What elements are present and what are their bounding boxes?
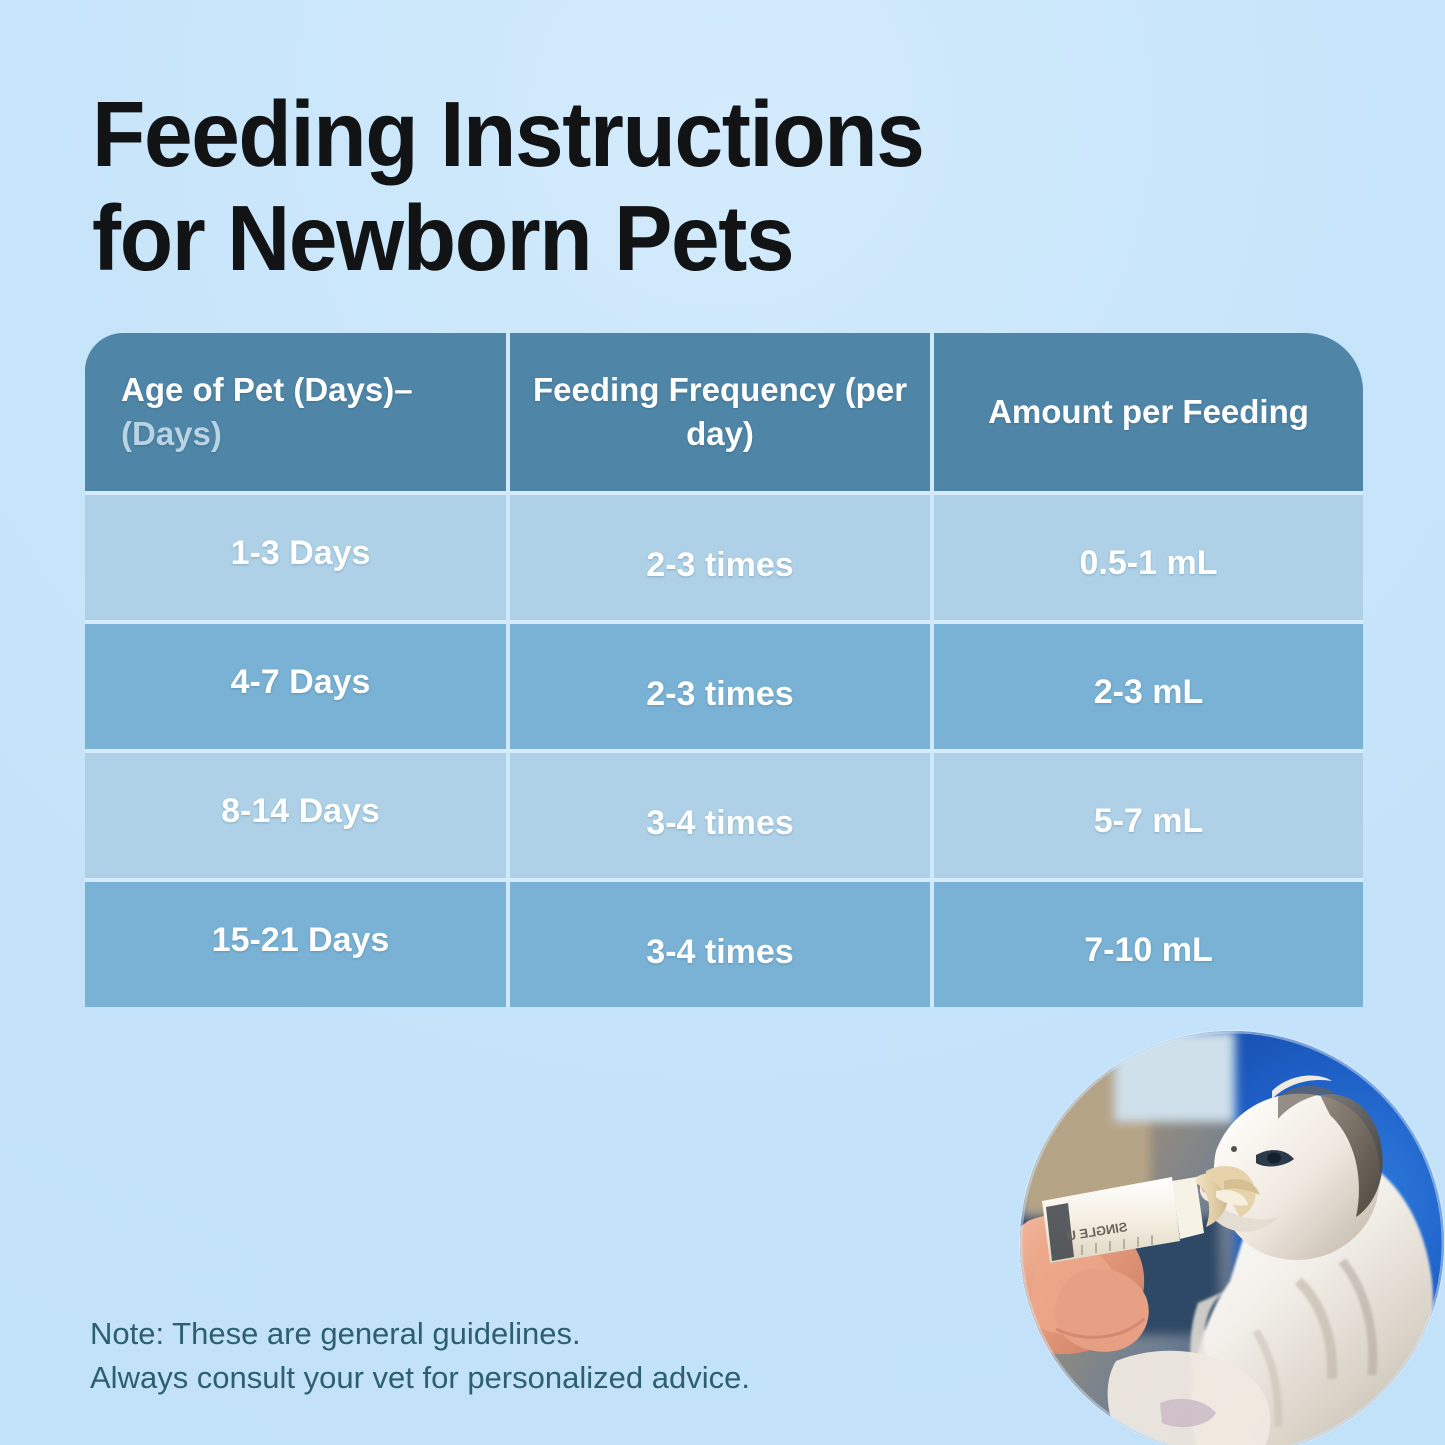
cell-frequency: 3-4 times [506, 749, 930, 878]
infographic-page: Feeding Instructions for Newborn Pets Ag… [0, 0, 1445, 1445]
cell-amount: 0.5-1 mL [930, 491, 1363, 620]
page-title-line-2: for Newborn Pets [92, 186, 1088, 290]
page-title-line-1: Feeding Instructions [92, 82, 1088, 186]
note-line-1: Note: These are general guidelines. [90, 1312, 990, 1356]
column-header-age: Age of Pet (Days)– (Days) [85, 333, 506, 491]
table-header-row: Age of Pet (Days)– (Days) Feeding Freque… [85, 333, 1363, 491]
page-title: Feeding Instructions for Newborn Pets [92, 82, 1152, 290]
cell-age: 4-7 Days [85, 620, 506, 749]
cell-frequency: 2-3 times [506, 620, 930, 749]
cell-age: 8-14 Days [85, 749, 506, 878]
column-header-age-main: Age of Pet (Days)– [121, 371, 413, 408]
table-row: 15-21 Days 3-4 times 7-10 mL [85, 878, 1363, 1007]
note-text: Note: These are general guidelines. Alwa… [90, 1312, 990, 1400]
column-header-frequency-line-1: Feeding Frequency [533, 371, 836, 408]
column-header-frequency: Feeding Frequency (per day) [506, 333, 930, 491]
table-row: 8-14 Days 3-4 times 5-7 mL [85, 749, 1363, 878]
note-line-2: Always consult your vet for personalized… [90, 1356, 990, 1400]
column-header-amount-line-2: Feeding [1182, 393, 1309, 430]
feeding-table: Age of Pet (Days)– (Days) Feeding Freque… [85, 333, 1363, 1007]
cell-amount: 2-3 mL [930, 620, 1363, 749]
table-row: 4-7 Days 2-3 times 2-3 mL [85, 620, 1363, 749]
column-header-amount: Amount per Feeding [930, 333, 1363, 491]
cell-amount: 5-7 mL [930, 749, 1363, 878]
cell-frequency: 3-4 times [506, 878, 930, 1007]
cell-age: 1-3 Days [85, 491, 506, 620]
cell-age: 15-21 Days [85, 878, 506, 1007]
column-header-amount-line-1: Amount per [988, 393, 1173, 430]
cell-amount: 7-10 mL [930, 878, 1363, 1007]
kitten-bottle-feeding-photo: SINGLE U [1020, 1031, 1444, 1445]
column-header-age-sub: (Days) [121, 412, 413, 456]
table-row: 1-3 Days 2-3 times 0.5-1 mL [85, 491, 1363, 620]
cell-frequency: 2-3 times [506, 491, 930, 620]
